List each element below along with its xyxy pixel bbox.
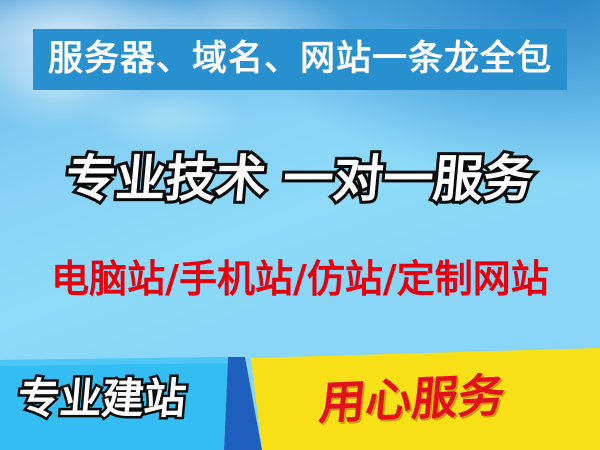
ribbon-left-text: 专业建站 xyxy=(16,378,188,420)
cloud-icon xyxy=(90,86,240,146)
tagline-primary-text: 专业技术 一对一服务 xyxy=(64,154,536,204)
ribbon-right-label: 用心服务 xyxy=(320,366,590,432)
promo-poster: 服务器、域名、网站一条龙全包 专业技术 一对一服务 电脑站/手机站/仿站/定制网… xyxy=(0,0,600,450)
service-list-text: 电脑站/手机站/仿站/定制网站 xyxy=(51,260,549,298)
service-list: 电脑站/手机站/仿站/定制网站 xyxy=(0,252,600,306)
ribbon-left-label: 专业建站 xyxy=(18,368,233,430)
tagline-primary: 专业技术 一对一服务 xyxy=(0,143,600,215)
headline-band: 服务器、域名、网站一条龙全包 xyxy=(33,29,567,90)
headline-text: 服务器、域名、网站一条龙全包 xyxy=(48,42,552,77)
ribbon-right-text: 用心服务 xyxy=(317,372,506,426)
